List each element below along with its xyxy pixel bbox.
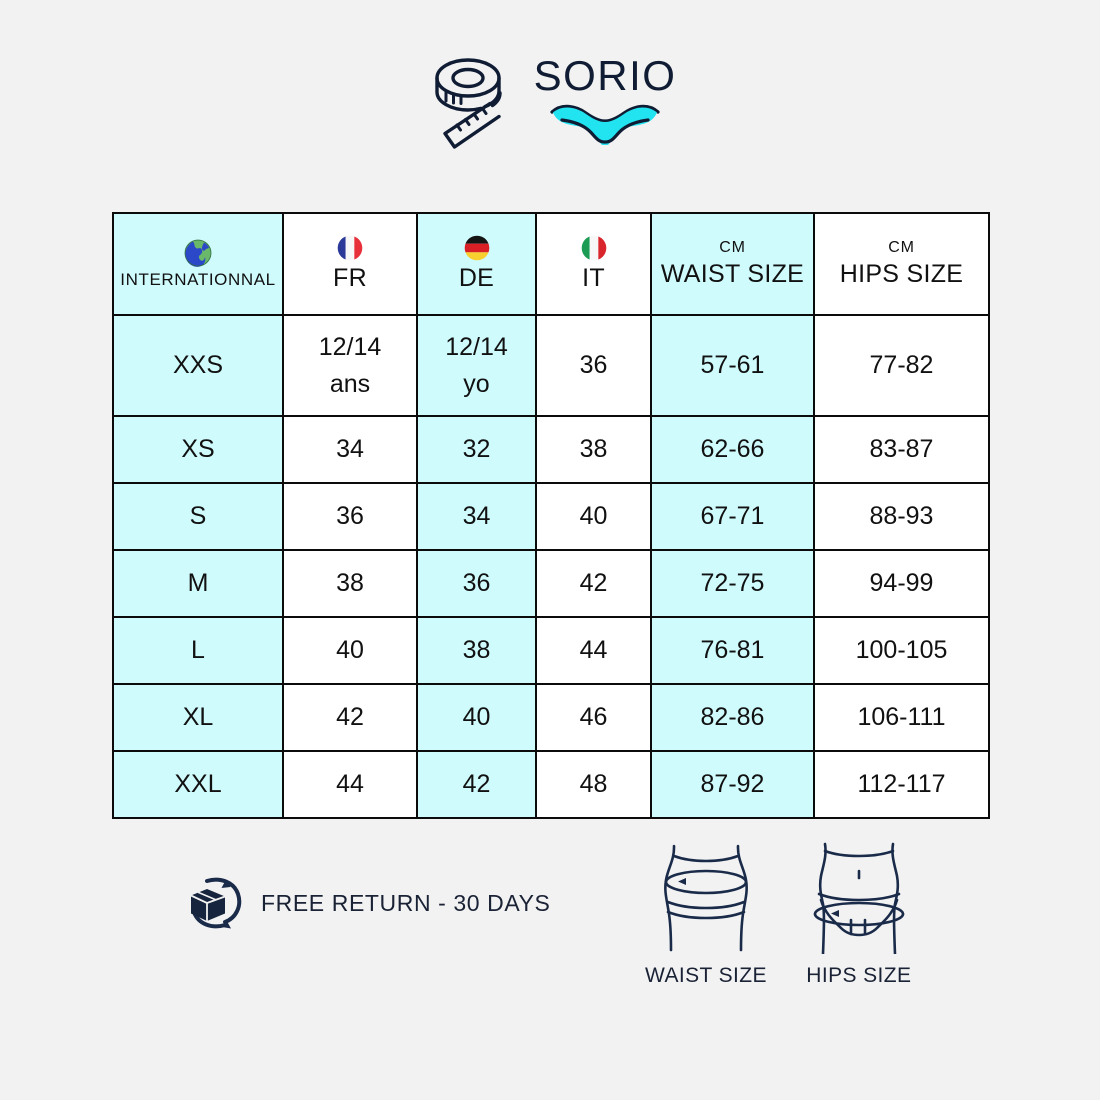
cell-waist: 82-86 xyxy=(651,684,814,751)
cell-it: 48 xyxy=(536,751,651,818)
thong-swoosh-icon xyxy=(544,99,666,145)
cell-hips: 112-117 xyxy=(814,751,989,818)
column-header-waist-label: WAIST SIZE xyxy=(661,260,804,289)
brand-name: SORIO xyxy=(534,55,677,97)
cell-fr: 36 xyxy=(283,483,417,550)
cell-fr: 40 xyxy=(283,617,417,684)
column-header-hips-label: HIPS SIZE xyxy=(840,260,964,289)
cell-waist: 62-66 xyxy=(651,416,814,483)
waist-measure-label: WAIST SIZE xyxy=(645,964,767,988)
cell-fr-line2: ans xyxy=(330,366,370,402)
column-header-de-label: DE xyxy=(459,264,494,293)
column-header-hips-unit: CM xyxy=(888,239,914,257)
column-header-fr-label: FR xyxy=(333,264,367,293)
hips-measure-guide: HIPS SIZE xyxy=(801,842,917,988)
table-row: L 40 38 44 76-81 100-105 xyxy=(113,617,989,684)
table-row: S 36 34 40 67-71 88-93 xyxy=(113,483,989,550)
table-row: M 38 36 42 72-75 94-99 xyxy=(113,550,989,617)
cell-de-line2: yo xyxy=(463,366,489,402)
cell-fr: 44 xyxy=(283,751,417,818)
cell-it: 46 xyxy=(536,684,651,751)
cell-it: 44 xyxy=(536,617,651,684)
cell-de: 36 xyxy=(417,550,536,617)
free-return-badge: FREE RETURN - 30 DAYS xyxy=(185,872,551,934)
hips-measure-icon xyxy=(801,842,917,954)
cell-waist: 76-81 xyxy=(651,617,814,684)
hips-measure-label: HIPS SIZE xyxy=(806,964,911,988)
measurement-guides: WAIST SIZE HIPS SIZE xyxy=(645,842,917,988)
cell-de: 32 xyxy=(417,416,536,483)
column-header-it-label: IT xyxy=(582,264,605,293)
waist-measure-icon xyxy=(648,842,764,954)
cell-de-line1: 12/14 xyxy=(445,329,508,365)
cell-hips: 83-87 xyxy=(814,416,989,483)
cell-international: XXS xyxy=(113,315,283,416)
measuring-tape-icon xyxy=(424,48,516,152)
column-header-waist: CM WAIST SIZE xyxy=(651,213,814,315)
cell-fr: 12/14 ans xyxy=(283,315,417,416)
cell-fr: 34 xyxy=(283,416,417,483)
cell-hips: 94-99 xyxy=(814,550,989,617)
cell-de: 40 xyxy=(417,684,536,751)
cell-hips: 106-111 xyxy=(814,684,989,751)
cell-hips: 77-82 xyxy=(814,315,989,416)
cell-it: 36 xyxy=(536,315,651,416)
cell-international: XS xyxy=(113,416,283,483)
waist-measure-guide: WAIST SIZE xyxy=(645,842,767,988)
column-header-fr: FR xyxy=(283,213,417,315)
cell-international: XL xyxy=(113,684,283,751)
size-chart-table: INTERNATIONNAL xyxy=(112,212,990,819)
size-chart-page: SORIO xyxy=(0,0,1100,1100)
cell-waist: 57-61 xyxy=(651,315,814,416)
cell-de: 34 xyxy=(417,483,536,550)
table-row: XXS 12/14 ans 12/14 yo 36 57-61 77-82 xyxy=(113,315,989,416)
return-box-icon xyxy=(185,872,247,934)
cell-hips: 88-93 xyxy=(814,483,989,550)
cell-de: 42 xyxy=(417,751,536,818)
cell-de: 12/14 yo xyxy=(417,315,536,416)
cell-hips: 100-105 xyxy=(814,617,989,684)
brand-text-block: SORIO xyxy=(534,55,677,145)
table-body: XXS 12/14 ans 12/14 yo 36 57-61 77-82 xyxy=(113,315,989,818)
cell-it: 42 xyxy=(536,550,651,617)
cell-international: M xyxy=(113,550,283,617)
cell-waist: 67-71 xyxy=(651,483,814,550)
cell-fr: 38 xyxy=(283,550,417,617)
cell-waist: 72-75 xyxy=(651,550,814,617)
cell-it: 40 xyxy=(536,483,651,550)
cell-international: S xyxy=(113,483,283,550)
flag-germany-icon xyxy=(464,235,490,261)
table-row: XXL 44 42 48 87-92 112-117 xyxy=(113,751,989,818)
table-row: XL 42 40 46 82-86 106-111 xyxy=(113,684,989,751)
cell-fr-line1: 12/14 xyxy=(319,329,382,365)
flag-france-icon xyxy=(337,235,363,261)
cell-international: XXL xyxy=(113,751,283,818)
column-header-international-label: INTERNATIONNAL xyxy=(120,270,275,290)
cell-waist: 87-92 xyxy=(651,751,814,818)
cell-it: 38 xyxy=(536,416,651,483)
table-row: XS 34 32 38 62-66 83-87 xyxy=(113,416,989,483)
column-header-it: IT xyxy=(536,213,651,315)
cell-fr: 42 xyxy=(283,684,417,751)
free-return-label: FREE RETURN - 30 DAYS xyxy=(261,890,551,917)
cell-international: L xyxy=(113,617,283,684)
column-header-international: INTERNATIONNAL xyxy=(113,213,283,315)
flag-italy-icon xyxy=(581,235,607,261)
column-header-de: DE xyxy=(417,213,536,315)
globe-icon xyxy=(184,239,212,267)
cell-de: 38 xyxy=(417,617,536,684)
brand-logo: SORIO xyxy=(0,48,1100,152)
column-header-waist-unit: CM xyxy=(719,239,745,257)
header-row: INTERNATIONNAL xyxy=(113,213,989,315)
table-header: INTERNATIONNAL xyxy=(113,213,989,315)
column-header-hips: CM HIPS SIZE xyxy=(814,213,989,315)
